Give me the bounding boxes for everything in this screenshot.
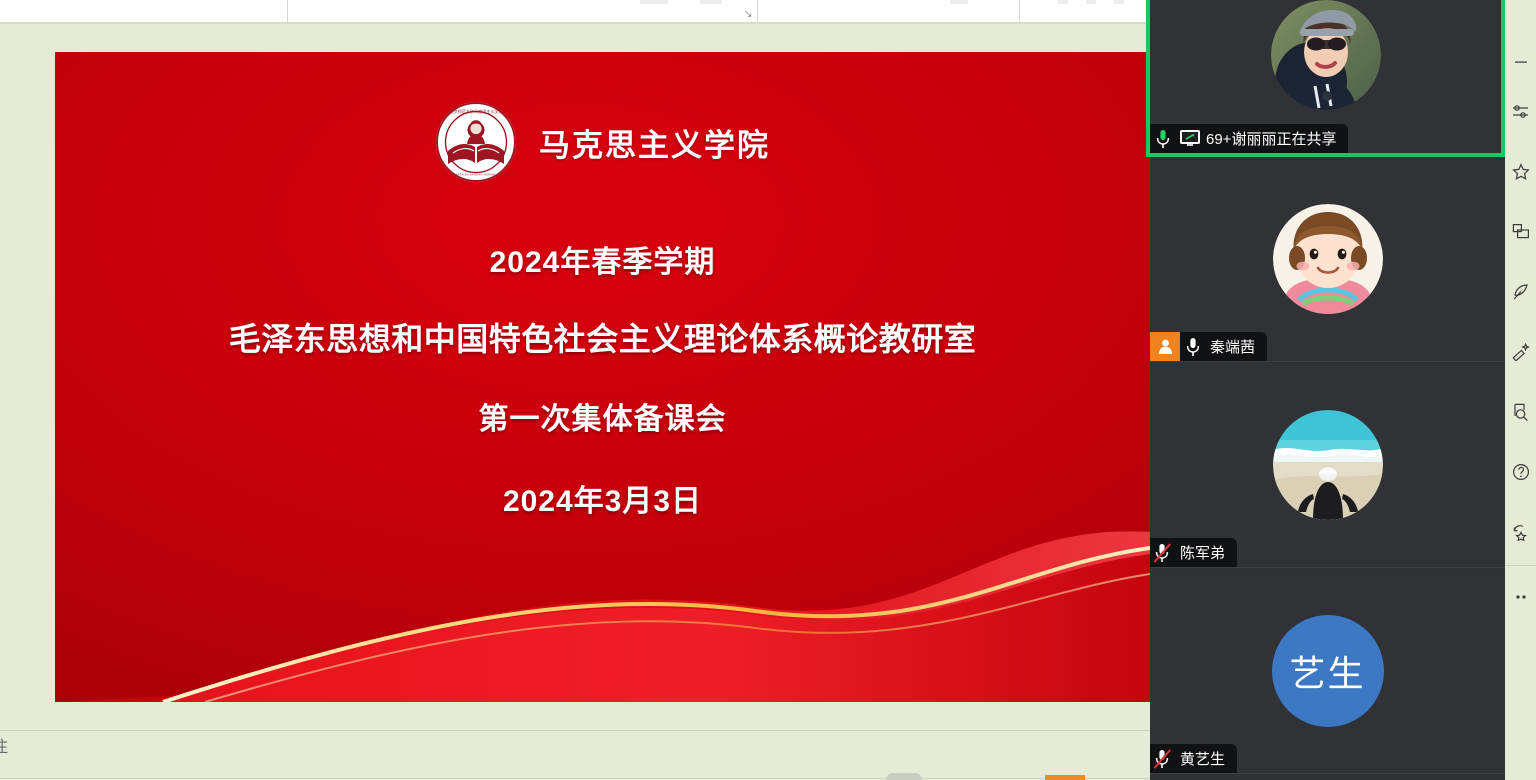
participant-nameplate: 黄艺生 [1150, 744, 1237, 773]
participant-tile-4[interactable]: 艺生 黄艺生 [1150, 569, 1505, 774]
microphone-on-icon [1180, 332, 1206, 361]
slide-title-line-1: 2024年春季学期 [55, 237, 1150, 281]
crest-bottom-text: SCHOOL OF MARXISM NANJING NORMAL UNIVERS… [437, 174, 516, 177]
microphone-muted-icon [1150, 538, 1176, 567]
participant-name: 69+谢丽丽正在共享 [1202, 128, 1336, 149]
avatar [1273, 204, 1383, 314]
rail-help-question-icon[interactable] [1505, 455, 1536, 489]
slide-title-line-4: 2024年3月3日 [55, 476, 1150, 520]
ribbon-strip: ↘ [0, 0, 1150, 22]
ribbon-control-ghost-1 [640, 0, 668, 4]
microphone-on-icon [1150, 124, 1176, 153]
notes-pane-divider-top [0, 730, 1150, 731]
avatar [1273, 410, 1383, 520]
avatar-initials: 艺生 [1272, 615, 1384, 727]
participant-name: 黄艺生 [1176, 748, 1225, 769]
slide-school-name: 马克思主义学院 [539, 120, 770, 165]
microphone-muted-icon [1150, 744, 1176, 773]
participant-nameplate: 秦端茜 [1150, 332, 1267, 361]
screen-share-icon [1178, 129, 1202, 149]
participant-name: 秦端茜 [1206, 336, 1255, 357]
participant-tile-3[interactable]: 陈军弟 [1150, 363, 1505, 568]
ribbon-group-separator-1 [287, 0, 288, 22]
dialog-launcher-icon[interactable]: ↘ [742, 8, 754, 20]
rail-recycle-star-icon[interactable] [1505, 515, 1536, 549]
rail-magic-wand-icon[interactable] [1505, 335, 1536, 369]
app-root: ↘ [0, 0, 1536, 780]
rail-divider [1505, 565, 1536, 566]
slide-surface[interactable]: 南京师范大学马克思主义学院 SCHOOL OF MARXISM NANJING … [55, 52, 1150, 702]
ribbon-control-ghost-2 [700, 0, 722, 4]
host-badge-icon [1150, 332, 1180, 361]
meeting-participants-panel: 69+谢丽丽正在共享 [1150, 0, 1505, 780]
status-bar-partial-control[interactable] [886, 773, 922, 780]
notes-pane-text-fragment[interactable]: 注 [0, 736, 20, 760]
ribbon-group-separator-2 [757, 0, 758, 22]
rail-layout-frame-icon[interactable] [1505, 215, 1536, 249]
crest-top-text: 南京师范大学马克思主义学院 [449, 108, 502, 114]
rail-settings-sliders-icon[interactable] [1505, 95, 1536, 129]
rail-feather-design-icon[interactable] [1505, 275, 1536, 309]
participant-tile-active[interactable]: 69+谢丽丽正在共享 [1146, 0, 1505, 157]
slide-wave-decoration [55, 512, 1150, 702]
ribbon-group-separator-3 [1019, 0, 1020, 22]
participant-nameplate: 陈军弟 [1150, 538, 1237, 567]
ribbon-control-ghost-5 [1086, 0, 1096, 4]
participant-nameplate: 69+谢丽丽正在共享 [1150, 124, 1348, 153]
slide-title-line-3: 第一次集体备课会 [55, 394, 1150, 438]
slide-logo-row: 南京师范大学马克思主义学院 SCHOOL OF MARXISM NANJING … [55, 101, 1150, 183]
avatar [1271, 0, 1381, 110]
slide-title-block: 2024年春季学期 毛泽东思想和中国特色社会主义理论体系概论教研室 第一次集体备… [55, 237, 1150, 520]
rail-minimize-icon[interactable] [1505, 45, 1536, 79]
status-bar-orange-indicator [1045, 775, 1085, 780]
ribbon-control-ghost-6 [1114, 0, 1124, 4]
slide-title-line-2: 毛泽东思想和中国特色社会主义理论体系概论教研室 [55, 314, 1150, 360]
ribbon-control-ghost-3 [950, 0, 968, 4]
rail-star-favorite-icon[interactable] [1505, 155, 1536, 189]
notes-pane-divider-bottom [0, 778, 1150, 779]
university-crest-icon: 南京师范大学马克思主义学院 SCHOOL OF MARXISM NANJING … [435, 101, 517, 183]
rail-more-dots-icon[interactable] [1505, 580, 1536, 614]
participant-name: 陈军弟 [1176, 542, 1225, 563]
participant-tile-2[interactable]: 秦端茜 [1150, 157, 1505, 362]
ribbon-control-ghost-4 [1058, 0, 1068, 4]
rail-doc-search-icon[interactable] [1505, 395, 1536, 429]
